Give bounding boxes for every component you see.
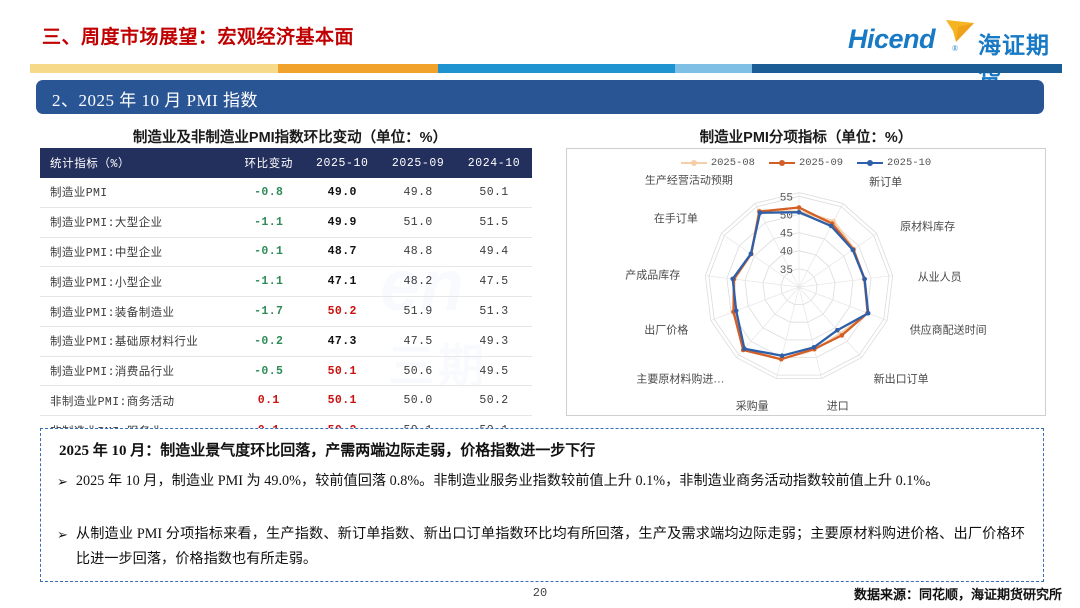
rule-seg-3 [438, 64, 675, 73]
legend-item[interactable]: 2025-10 [857, 157, 931, 169]
col-2025-09: 2025-09 [380, 148, 456, 178]
legend-swatch-icon [857, 162, 883, 164]
table-row: 制造业PMI:小型企业-1.147.148.247.5 [40, 267, 532, 297]
radar-axis-label: 原材料库存 [900, 219, 955, 233]
cell-indicator: 制造业PMI:大型企业 [40, 207, 233, 237]
table-header-row: 统计指标（%） 环比变动 2025-10 2025-09 2024-10 [40, 148, 532, 178]
radar-data-point [734, 309, 739, 314]
legend-item[interactable]: 2025-08 [681, 157, 755, 169]
radar-data-point [812, 345, 817, 350]
cell-2024-10: 50.2 [456, 386, 532, 416]
radar-data-point [797, 205, 802, 210]
cell-2025-10: 49.0 [304, 178, 380, 207]
cell-2025-09: 51.0 [380, 207, 456, 237]
cell-change: -1.7 [233, 297, 304, 327]
table-row: 制造业PMI:消费品行业-0.550.150.649.5 [40, 356, 532, 386]
table-caption: 制造业及非制造业PMI指数环比变动（单位：%） [40, 126, 540, 147]
table-row: 制造业PMI:大型企业-1.149.951.051.5 [40, 207, 532, 237]
commentary-item-2-text: 从制造业 PMI 分项指标来看，生产指数、新订单指数、新出口订单指数环比均有所回… [76, 522, 1025, 572]
bullet-arrow-icon: ➢ [57, 522, 68, 572]
cell-2025-09: 48.8 [380, 237, 456, 267]
radar-data-point [851, 248, 856, 253]
cell-2025-10: 49.9 [304, 207, 380, 237]
radar-tick-label: 45 [780, 229, 793, 241]
cell-2025-10: 47.3 [304, 326, 380, 356]
cell-indicator: 制造业PMI:装备制造业 [40, 297, 233, 327]
slide-root: 三、周度市场展望：宏观经济基本面 Hicend ® 海证期货 2、2025 年 … [0, 0, 1080, 608]
table-row: 非制造业PMI:商务活动0.150.150.050.2 [40, 386, 532, 416]
cell-2025-10: 47.1 [304, 267, 380, 297]
radar-axis-label: 生产经营活动预期 [645, 175, 733, 186]
pmi-table: 统计指标（%） 环比变动 2025-10 2025-09 2024-10 制造业… [40, 148, 532, 446]
radar-data-point [758, 211, 763, 216]
legend-label: 2025-10 [887, 157, 931, 169]
cell-2024-10: 49.4 [456, 237, 532, 267]
radar-axis-label: 从业人员 [918, 271, 962, 284]
chart-legend: 2025-082025-092025-10 [567, 157, 1045, 169]
radar-tick-label: 55 [780, 192, 793, 204]
table-row: 制造业PMI:中型企业-0.148.748.849.4 [40, 237, 532, 267]
radar-axis-label: 采购量 [736, 398, 769, 412]
legend-swatch-icon [681, 162, 707, 164]
data-source-note: 数据来源：同花顺，海证期货研究所 [854, 584, 1062, 603]
legend-item[interactable]: 2025-09 [769, 157, 843, 169]
cell-2025-10: 50.1 [304, 356, 380, 386]
cell-indicator: 制造业PMI:中型企业 [40, 237, 233, 267]
radar-data-point [835, 328, 840, 333]
cell-2025-10: 50.1 [304, 386, 380, 416]
logo-registered-icon: ® [952, 44, 958, 53]
radar-data-point [742, 346, 747, 351]
radar-data-point [866, 311, 871, 316]
cell-indicator: 制造业PMI:小型企业 [40, 267, 233, 297]
legend-label: 2025-09 [799, 157, 843, 169]
radar-chart-svg: 5550454035生产新订单原材料库存从业人员供应商配送时间新出口订单进口采购… [567, 175, 1045, 413]
col-indicator: 统计指标（%） [40, 148, 233, 178]
cell-2024-10: 51.5 [456, 207, 532, 237]
page-title: 三、周度市场展望：宏观经济基本面 [42, 22, 354, 49]
rule-seg-5 [752, 64, 1062, 73]
radar-data-point [749, 252, 754, 257]
cell-change: -0.5 [233, 356, 304, 386]
table-row: 制造业PMI:装备制造业-1.750.251.951.3 [40, 297, 532, 327]
radar-data-point [829, 224, 834, 229]
cell-indicator: 非制造业PMI:商务活动 [40, 386, 233, 416]
radar-data-point [840, 333, 845, 338]
rule-seg-1 [30, 64, 278, 73]
section-banner-label: 2、2025 年 10 月 PMI 指数 [52, 86, 258, 111]
radar-axis-label: 新订单 [869, 175, 902, 188]
radar-chart-panel: 2025-082025-092025-10 5550454035生产新订单原材料… [566, 148, 1046, 416]
rule-seg-2 [278, 64, 438, 73]
legend-label: 2025-08 [711, 157, 755, 169]
cell-2025-09: 47.5 [380, 326, 456, 356]
radar-data-point [780, 353, 785, 358]
cell-2024-10: 51.3 [456, 297, 532, 327]
radar-tick-label: 35 [780, 265, 793, 277]
cell-change: -1.1 [233, 207, 304, 237]
radar-data-point [730, 277, 735, 282]
chart-caption: 制造业PMI分项指标（单位：%） [566, 126, 1046, 147]
cell-indicator: 制造业PMI [40, 178, 233, 207]
cell-2024-10: 47.5 [456, 267, 532, 297]
commentary-heading: 2025 年 10 月：制造业景气度环比回落，产需两端边际走弱，价格指数进一步下… [59, 439, 595, 460]
cell-2024-10: 50.1 [456, 178, 532, 207]
cell-change: -1.1 [233, 267, 304, 297]
cell-2025-09: 51.9 [380, 297, 456, 327]
pmi-table-wrap: 统计指标（%） 环比变动 2025-10 2025-09 2024-10 制造业… [40, 148, 532, 446]
radar-axis-label: 主要原材料购进… [636, 371, 724, 385]
radar-axis-label: 产成品库存 [625, 268, 680, 282]
cell-2025-09: 50.0 [380, 386, 456, 416]
section-banner: 2、2025 年 10 月 PMI 指数 [36, 80, 1044, 114]
commentary-item-2: ➢ 从制造业 PMI 分项指标来看，生产指数、新订单指数、新出口订单指数环比均有… [57, 522, 1025, 572]
pmi-table-head: 统计指标（%） 环比变动 2025-10 2025-09 2024-10 [40, 148, 532, 178]
bullet-arrow-icon: ➢ [57, 469, 68, 494]
company-logo: Hicend ® 海证期货 [848, 18, 1062, 58]
cell-change: -0.1 [233, 237, 304, 267]
pmi-table-body: 制造业PMI-0.849.049.850.1制造业PMI:大型企业-1.149.… [40, 178, 532, 446]
commentary-box: 2025 年 10 月：制造业景气度环比回落，产需两端边际走弱，价格指数进一步下… [40, 428, 1044, 582]
radar-axis-label: 供应商配送时间 [910, 323, 987, 337]
col-change: 环比变动 [233, 148, 304, 178]
logo-swoosh-icon [944, 18, 978, 44]
radar-axis-label: 新出口订单 [874, 371, 929, 385]
cell-2025-10: 50.2 [304, 297, 380, 327]
cell-change: 0.1 [233, 386, 304, 416]
legend-swatch-icon [769, 162, 795, 164]
table-row: 制造业PMI-0.849.049.850.1 [40, 178, 532, 207]
cell-2025-09: 50.6 [380, 356, 456, 386]
radar-data-point [797, 210, 802, 215]
commentary-item-1-text: 2025 年 10 月，制造业 PMI 为 49.0%，较前值回落 0.8%。非… [76, 469, 1025, 494]
cell-change: -0.2 [233, 326, 304, 356]
radar-axis-label: 在手订单 [654, 211, 698, 225]
cell-indicator: 制造业PMI:基础原材料行业 [40, 326, 233, 356]
radar-axis-label: 进口 [827, 399, 849, 412]
cell-2025-10: 48.7 [304, 237, 380, 267]
cell-indicator: 制造业PMI:消费品行业 [40, 356, 233, 386]
col-2024-10: 2024-10 [456, 148, 532, 178]
commentary-item-1: ➢ 2025 年 10 月，制造业 PMI 为 49.0%，较前值回落 0.8%… [57, 469, 1025, 494]
accent-rule [30, 64, 1062, 73]
rule-seg-4 [675, 64, 752, 73]
radar-tick-label: 40 [780, 247, 793, 259]
cell-2025-09: 49.8 [380, 178, 456, 207]
radar-data-point [862, 277, 867, 282]
logo-wordmark: Hicend [848, 24, 935, 55]
cell-2024-10: 49.5 [456, 356, 532, 386]
radar-axis-label: 出厂价格 [644, 323, 688, 337]
table-row: 制造业PMI:基础原材料行业-0.247.347.549.3 [40, 326, 532, 356]
cell-change: -0.8 [233, 178, 304, 207]
cell-2025-09: 48.2 [380, 267, 456, 297]
col-2025-10: 2025-10 [304, 148, 380, 178]
cell-2024-10: 49.3 [456, 326, 532, 356]
